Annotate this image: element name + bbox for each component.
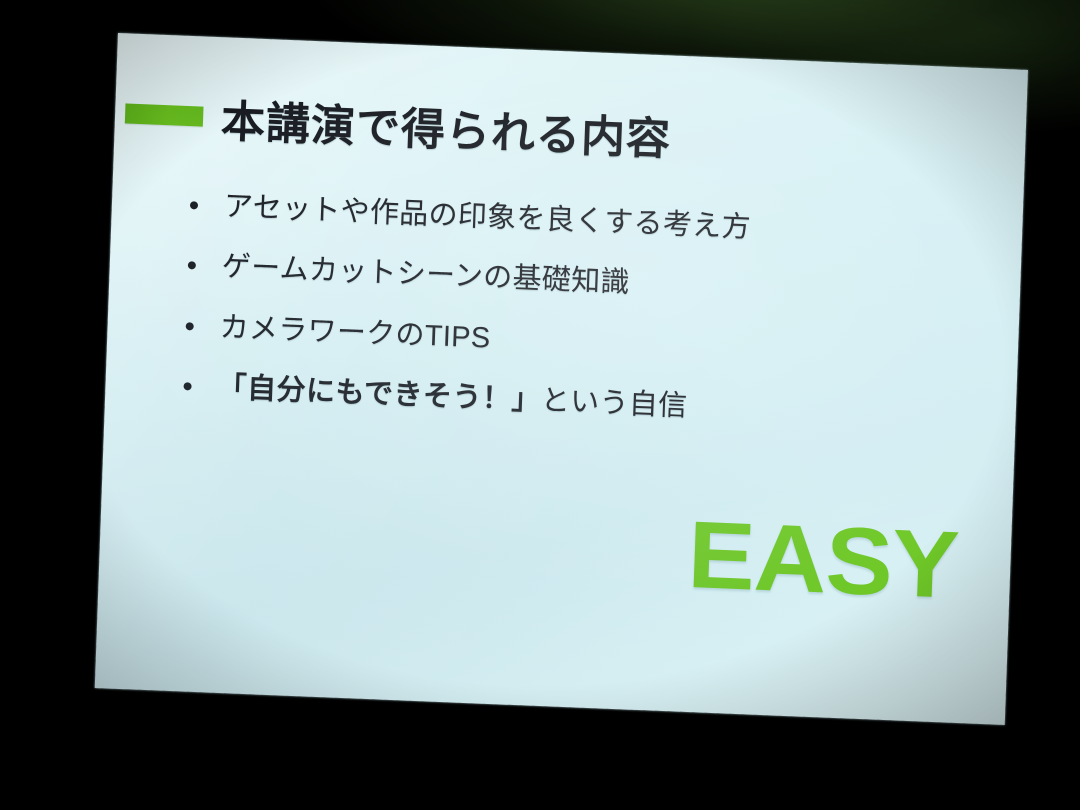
bullet-dot-icon <box>183 382 191 390</box>
list-item: ゲームカットシーンの基礎知識 <box>187 246 988 317</box>
bullet-dot-icon <box>190 201 198 209</box>
page-title: 本講演で得られる内容 <box>220 85 672 167</box>
slide-title-row: 本講演で得られる内容 <box>124 81 672 167</box>
bullet-text-emphasized: 「自分にもできそう！」という自信 <box>217 368 688 425</box>
photo-frame: 本講演で得られる内容 アセットや作品の印象を良くする考え方 ゲームカットシーンの… <box>0 0 1080 810</box>
keyword-easy: EASY <box>687 510 960 611</box>
bullet-text: アセットや作品の印象を良くする考え方 <box>223 188 751 248</box>
bullet-dot-icon <box>186 322 194 330</box>
bullet-list: アセットや作品の印象を良くする考え方 ゲームカットシーンの基礎知識 カメラワーク… <box>182 186 991 460</box>
bullet-text: カメラワークのTIPS <box>219 308 491 357</box>
bullet-tail: という自信 <box>540 384 688 422</box>
title-accent-bar <box>125 103 204 126</box>
bullet-dot-icon <box>188 261 196 269</box>
list-item: アセットや作品の印象を良くする考え方 <box>189 186 990 257</box>
list-item: カメラワークのTIPS <box>185 307 986 378</box>
projection-screen-area: 本講演で得られる内容 アセットや作品の印象を良くする考え方 ゲームカットシーンの… <box>0 0 1080 810</box>
presentation-slide: 本講演で得られる内容 アセットや作品の印象を良くする考え方 ゲームカットシーンの… <box>95 33 1028 725</box>
bullet-emphasis: 「自分にもできそう！」 <box>217 371 541 416</box>
list-item: 「自分にもできそう！」という自信 <box>183 367 984 438</box>
bullet-text: ゲームカットシーンの基礎知識 <box>221 248 630 303</box>
